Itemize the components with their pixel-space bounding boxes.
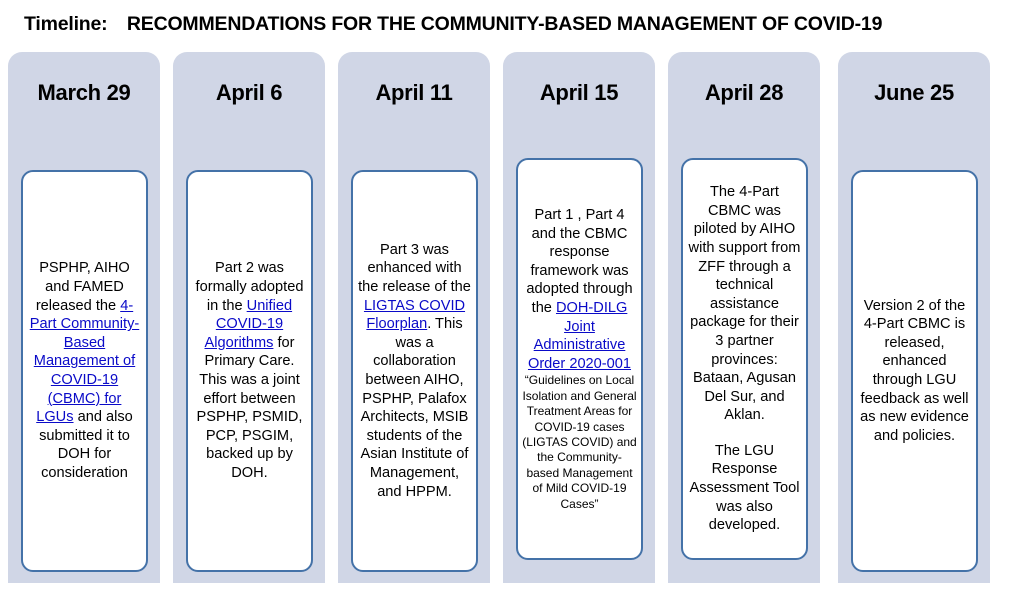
timeline-column-2: April 6Part 2 was formally adopted in th… (173, 52, 325, 583)
timeline-event-card: Part 3 was enhanced with the release of … (351, 170, 478, 572)
timeline-column-3: April 11Part 3 was enhanced with the rel… (338, 52, 490, 583)
timeline-event-card: Part 2 was formally adopted in the Unifi… (186, 170, 313, 572)
timeline-column-5: April 28The 4-Part CBMC was piloted by A… (668, 52, 820, 583)
timeline-event-card: The 4-Part CBMC was piloted by AIHO with… (681, 158, 808, 560)
timeline-event-text: Part 2 was formally adopted in the Unifi… (192, 259, 307, 482)
timeline-event-card: Part 1 , Part 4 and the CBMC response fr… (516, 158, 643, 560)
page-title-main: RECOMMENDATIONS FOR THE COMMUNITY-BASED … (127, 13, 882, 35)
timeline-column-6: June 25Version 2 of the 4-Part CBMC is r… (838, 52, 990, 583)
timeline-event-link[interactable]: 4-Part Community-Based Management of COV… (30, 298, 139, 426)
timeline-event-card: Version 2 of the 4-Part CBMC is released… (851, 170, 978, 572)
timeline-column-1: March 29PSPHP, AIHO and FAMED released t… (8, 52, 160, 583)
timeline-date-label: April 11 (338, 80, 490, 106)
timeline-event-sentence: Version 2 of the 4-Part CBMC is released… (860, 298, 969, 444)
timeline-event-sentence: PSPHP, AIHO and FAMED released the (36, 260, 130, 313)
timeline-event-text: Part 3 was enhanced with the release of … (357, 241, 472, 501)
timeline-event-sentence: The 4-Part CBMC was piloted by AIHO with… (689, 184, 801, 423)
page-title-prefix: Timeline: (24, 13, 107, 35)
timeline-container: March 29PSPHP, AIHO and FAMED released t… (0, 52, 1013, 587)
timeline-event-quote: “Guidelines on Local Isolation and Gener… (522, 373, 637, 512)
timeline-event-text: The 4-Part CBMC was piloted by AIHO with… (687, 183, 802, 535)
timeline-date-label: March 29 (8, 80, 160, 106)
timeline-date-label: June 25 (838, 80, 990, 106)
timeline-column-4: April 15Part 1 , Part 4 and the CBMC res… (503, 52, 655, 583)
timeline-event-card: PSPHP, AIHO and FAMED released the 4-Par… (21, 170, 148, 572)
page-title: Timeline: RECOMMENDATIONS FOR THE COMMUN… (24, 8, 1004, 40)
timeline-date-label: April 28 (668, 80, 820, 106)
timeline-event-paragraph-gap (687, 425, 802, 442)
timeline-event-sentence: Part 3 was enhanced with the release of … (358, 242, 471, 295)
timeline-event-text: PSPHP, AIHO and FAMED released the 4-Par… (27, 259, 142, 482)
timeline-event-text: Part 1 , Part 4 and the CBMC response fr… (522, 206, 637, 512)
timeline-event-sentence: . This was a collaboration between AIHO,… (361, 316, 469, 499)
timeline-date-label: April 15 (503, 80, 655, 106)
timeline-event-sentence: The LGU Response Assessment Tool was als… (689, 443, 799, 533)
timeline-event-sentence: for Primary Care. This was a joint effor… (197, 335, 303, 481)
timeline-date-label: April 6 (173, 80, 325, 106)
timeline-event-text: Version 2 of the 4-Part CBMC is released… (857, 297, 972, 446)
